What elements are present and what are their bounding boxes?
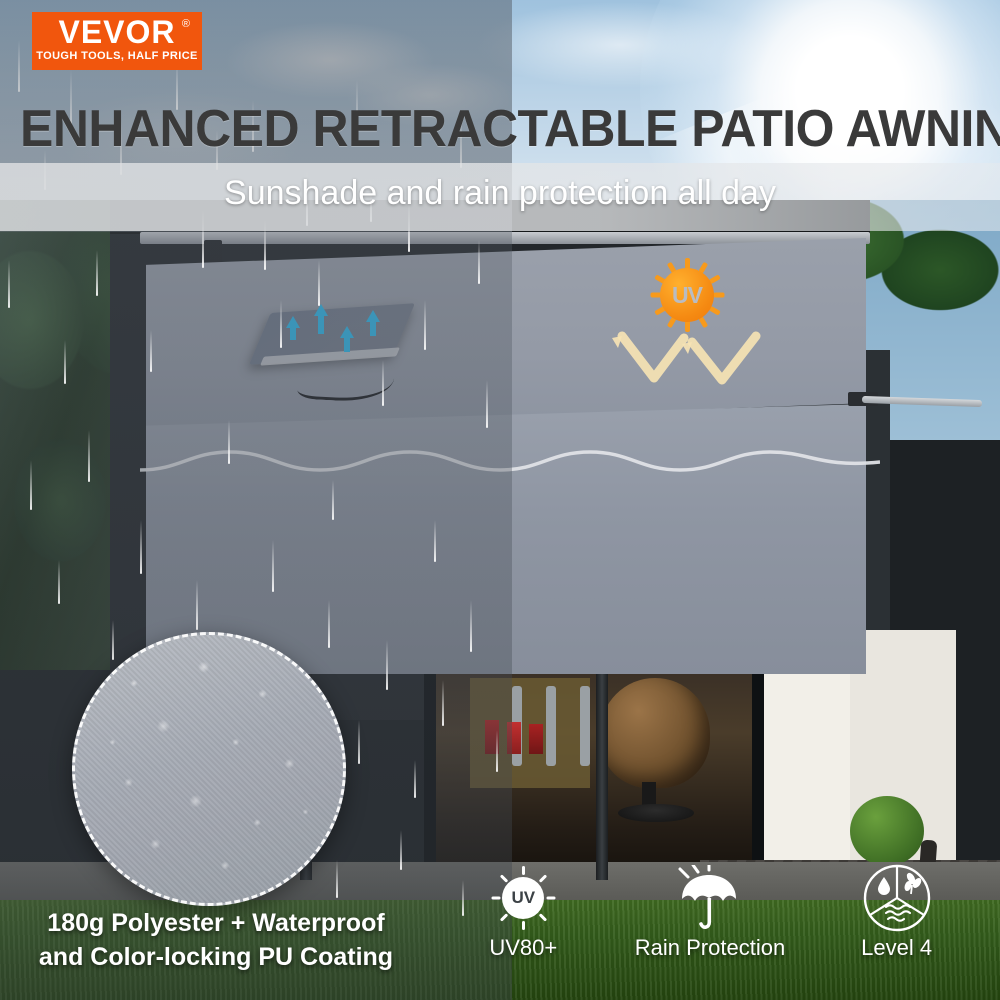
fabric-caption-line-1: 180g Polyester + Waterproof (16, 906, 416, 940)
feature-label-level: Level 4 (812, 934, 982, 962)
uv-sun-graphic: UV (650, 258, 724, 332)
feature-label-rain: Rain Protection (625, 934, 795, 962)
logo-wordmark: VEVOR (32, 14, 202, 51)
awning-support-pole (596, 670, 608, 880)
uv-badge-label: UV (660, 268, 714, 322)
chair-base (618, 804, 694, 822)
product-marketing-image: UV (0, 0, 1000, 1000)
uv-sun-icon: UV (438, 862, 608, 934)
water-level-icon (812, 862, 982, 934)
logo-tagline: TOUGH TOOLS, HALF PRICE (32, 50, 202, 62)
bar-stool (580, 686, 590, 766)
umbrella-icon (625, 862, 795, 934)
fabric-closeup-circle (72, 632, 346, 906)
wicker-egg-chair (600, 678, 710, 788)
feature-badges: UV UV80+ Rain Protection (430, 862, 990, 992)
uv-reflection-arrows (606, 326, 786, 392)
fabric-caption-line-2: and Color-locking PU Coating (16, 940, 416, 974)
page-subtitle: Sunshade and rain protection all day (0, 172, 1000, 214)
topiary-plant (850, 796, 924, 866)
feature-uv80: UV UV80+ (438, 862, 608, 962)
uv-icon-text: UV (502, 877, 544, 919)
feature-level-4: Level 4 (812, 862, 982, 962)
feature-rain-protection: Rain Protection (625, 862, 795, 962)
registered-mark: ® (182, 18, 190, 30)
door-frame (752, 668, 764, 882)
page-title: ENHANCED RETRACTABLE PATIO AWNING (20, 100, 980, 158)
fabric-caption: 180g Polyester + Waterproof and Color-lo… (16, 906, 416, 974)
vevor-logo[interactable]: VEVOR ® TOUGH TOOLS, HALF PRICE (32, 12, 202, 70)
feature-label-uv: UV80+ (438, 934, 608, 962)
